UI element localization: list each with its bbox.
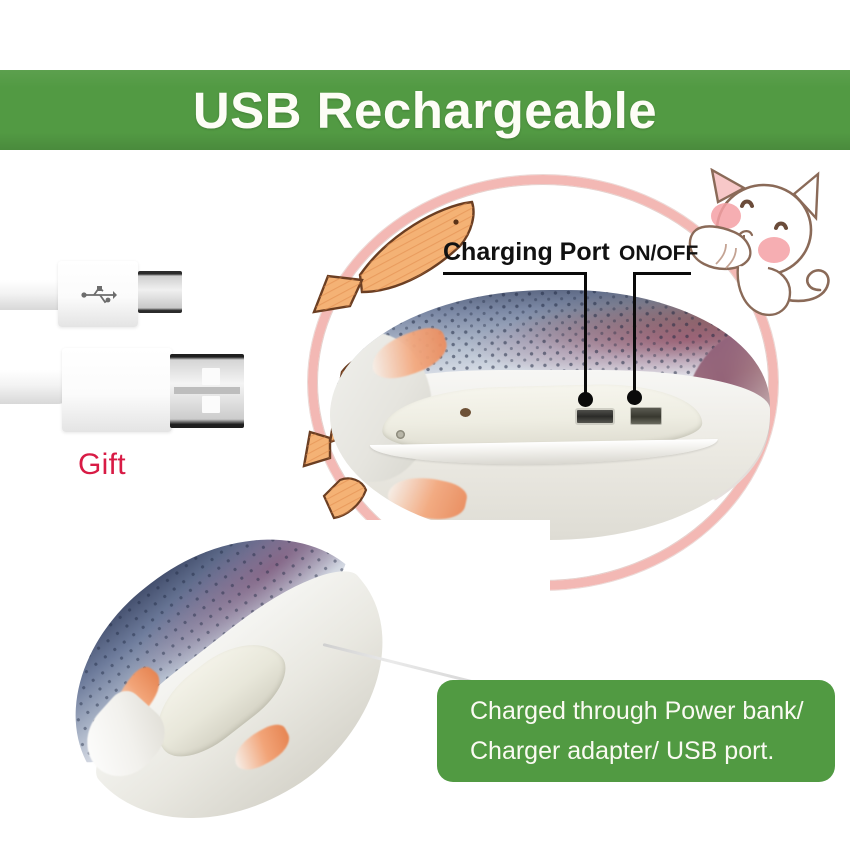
caption-box: Charged through Power bank/ Charger adap… <box>437 680 835 782</box>
on-off-leader-dot <box>627 390 642 405</box>
cat-illustration <box>682 168 850 333</box>
usb-a-housing <box>62 348 172 432</box>
caption-line-2: Charger adapter/ USB port. <box>470 731 835 772</box>
usb-trident-icon <box>80 283 120 305</box>
indicator-led <box>460 408 471 417</box>
label-on-off: ON/OFF <box>619 243 698 264</box>
charging-port-leader-horizontal <box>443 272 587 275</box>
cat-cheek-right <box>758 237 790 263</box>
charging-port-leader-vertical <box>584 272 587 400</box>
usb-a-tongue <box>174 387 240 394</box>
cat-cheek-left <box>711 203 741 229</box>
charging-port-leader-dot <box>578 392 593 407</box>
usb-a-slot-top <box>202 368 220 385</box>
cat-body <box>738 266 790 315</box>
banner-title: USB Rechargeable <box>193 85 657 136</box>
label-charging-port: Charging Port <box>443 240 610 265</box>
on-off-leader-horizontal <box>633 272 691 275</box>
bottom-product-fish <box>55 525 425 850</box>
header-banner: USB Rechargeable <box>0 70 850 150</box>
caption-line-1: Charged through Power bank/ <box>470 691 835 732</box>
on-off-leader-vertical <box>633 272 636 398</box>
usb-a-cord <box>0 370 68 404</box>
micro-usb-tip <box>138 271 182 313</box>
usb-a-slot-bottom <box>202 396 220 413</box>
gift-label: Gift <box>78 448 126 482</box>
module-screw <box>396 430 405 439</box>
product-infographic: USB Rechargeable <box>0 0 850 850</box>
micro-usb-port <box>575 408 615 425</box>
bottom-fish-body <box>23 480 437 850</box>
usb-cable-illustration <box>0 258 275 438</box>
power-switch <box>630 407 662 425</box>
